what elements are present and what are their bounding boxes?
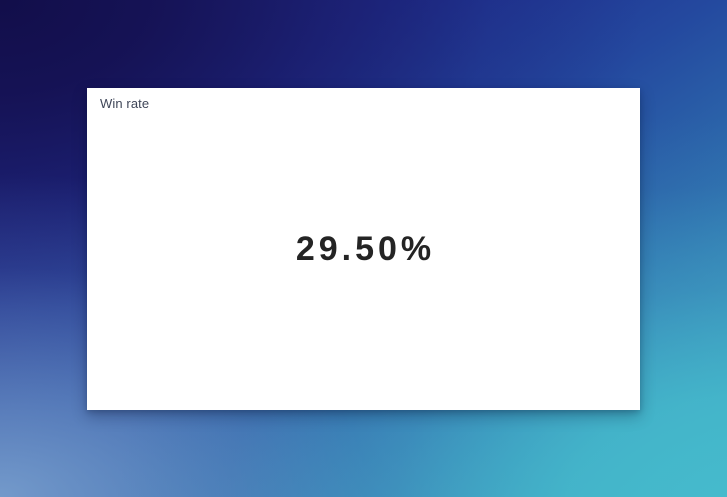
metric-value: 29.50%: [296, 229, 435, 269]
metric-value-container: 29.50%: [87, 88, 640, 410]
metric-card: Win rate 29.50%: [87, 88, 640, 410]
